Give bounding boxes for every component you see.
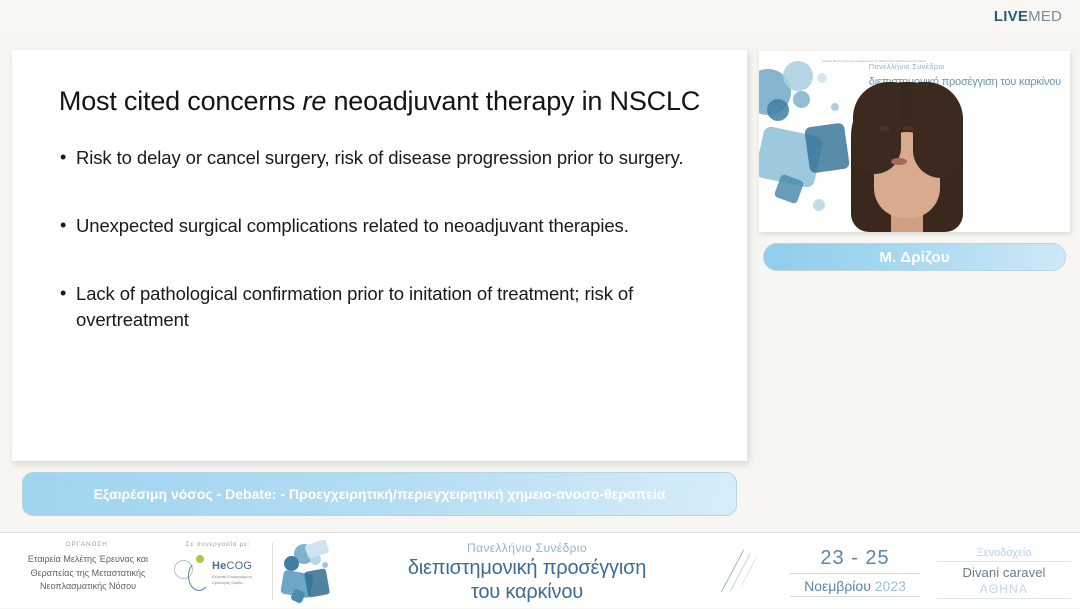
organizer-block: ΟΡΓΑΝΩΣΗ: Εταιρεία Μελέτης Έρευνας και Θ…	[8, 541, 168, 594]
backdrop-bubble-icon	[783, 61, 813, 91]
backdrop-bubble-icon	[793, 91, 810, 108]
hecog-text: HeCOG Ελληνική Συνεργαζόμενη Ογκολογική …	[212, 560, 268, 586]
eyebrow-icon	[877, 119, 892, 122]
conference-logo-art	[282, 542, 344, 602]
backdrop-brand-line1: Πανελλήνιο Συνέδριο	[869, 63, 1061, 72]
hecog-subtitle: Ελληνική Συνεργαζόμενη Ογκολογική Ομάδα	[212, 574, 268, 586]
dates-days: 23 - 25	[790, 547, 920, 574]
hecog-arc-icon	[188, 561, 210, 591]
venue-name: Divani caravel	[938, 565, 1070, 580]
conference-title-block: Πανελλήνιο Συνέδριο διεπιστημονική προσέ…	[352, 541, 702, 604]
venue-city: ΑΘΗΝΑ	[938, 582, 1070, 599]
bullet-marker-icon: •	[60, 281, 66, 307]
venue-label: Ξενοδοχείο	[938, 547, 1070, 562]
logo-bubble-icon	[284, 556, 299, 571]
organizer-label: ΟΡΓΑΝΩΣΗ:	[8, 541, 168, 548]
bullet-text: Lack of pathological confirmation prior …	[76, 283, 633, 330]
slide-title-italic: re	[303, 86, 327, 116]
backdrop-bubble-icon	[813, 199, 825, 211]
livemed-logo-live: LIVE	[994, 8, 1028, 25]
logo-shape-icon	[304, 539, 329, 559]
hecog-wordmark: HeCOG	[212, 560, 268, 572]
dates-year: 2023	[875, 578, 906, 594]
top-bar: LIVEMED	[0, 0, 1080, 38]
speaker-video-tile[interactable]: Εταιρεία Μελέτης Έρευνας και Θεραπείας τ…	[759, 51, 1070, 232]
organizer-name: Εταιρεία Μελέτης Έρευνας και Θεραπείας τ…	[8, 553, 168, 594]
conference-footer: ΟΡΓΑΝΩΣΗ: Εταιρεία Μελέτης Έρευνας και Θ…	[0, 532, 1080, 608]
cooperation-label: Σε συνεργασία με:	[168, 541, 268, 548]
mouth-icon	[891, 158, 907, 165]
dates-month: Νοεμβρίου	[804, 578, 875, 594]
hecog-mark-icon	[174, 554, 212, 594]
slide-bullet-list: • Risk to delay or cancel surgery, risk …	[60, 145, 705, 334]
session-title-bar: Εξαιρέσιμη νόσος - Debate: - Προεγχειρητ…	[22, 472, 737, 516]
speaker-name-badge: Μ. Δρίζου	[763, 243, 1066, 271]
presentation-slide[interactable]: Most cited concerns re neoadjuvant thera…	[12, 50, 747, 461]
bullet-text: Risk to delay or cancel surgery, risk of…	[76, 147, 683, 168]
cooperation-block: Σε συνεργασία με: HeCOG Ελληνική Συνεργα…	[168, 541, 268, 596]
slash-decoration-icon	[714, 547, 768, 597]
backdrop-bubble-icon	[767, 99, 789, 121]
conference-dates: 23 - 25 Νοεμβρίου 2023	[790, 547, 920, 597]
slash-stroke	[741, 558, 756, 585]
livemed-logo-med: MED	[1028, 8, 1062, 25]
eyebrow-icon	[901, 119, 916, 122]
session-title-label: Εξαιρέσιμη νόσος - Debate: - Προεγχειρητ…	[94, 484, 666, 504]
speaker-portrait	[843, 82, 971, 232]
bullet-marker-icon: •	[60, 213, 66, 239]
speaker-name-label: Μ. Δρίζου	[879, 249, 949, 266]
eye-icon	[903, 126, 914, 131]
conference-venue: Ξενοδοχείο Divani caravel ΑΘΗΝΑ	[938, 547, 1070, 599]
hecog-cog: COG	[226, 560, 252, 572]
list-item: • Lack of pathological confirmation prio…	[60, 281, 705, 334]
slide-title: Most cited concerns re neoadjuvant thera…	[44, 84, 715, 119]
hecog-he: He	[212, 560, 226, 572]
backdrop-bubble-icon	[817, 73, 827, 83]
list-item: • Unexpected surgical complications rela…	[60, 213, 705, 239]
eye-icon	[879, 126, 890, 131]
bullet-marker-icon: •	[60, 145, 66, 171]
conference-line3: του καρκίνου	[352, 581, 702, 605]
slide-title-part1: Most cited concerns	[59, 86, 303, 116]
backdrop-bubble-icon	[831, 103, 839, 111]
list-item: • Risk to delay or cancel surgery, risk …	[60, 145, 705, 171]
conference-line1: Πανελλήνιο Συνέδριο	[352, 541, 702, 555]
hecog-logo: HeCOG Ελληνική Συνεργαζόμενη Ογκολογική …	[168, 552, 268, 596]
conference-line2: διεπιστημονική προσέγγιση	[352, 557, 702, 581]
dates-month-year: Νοεμβρίου 2023	[790, 578, 920, 597]
bullet-text: Unexpected surgical complications relate…	[76, 215, 629, 236]
logo-bubble-icon	[322, 562, 328, 568]
footer-divider	[272, 542, 273, 600]
livemed-logo[interactable]: LIVEMED	[994, 8, 1062, 25]
logo-shape-icon	[304, 568, 330, 597]
hair-right-icon	[913, 82, 963, 178]
slide-title-part2: neoadjuvant therapy in NSCLC	[326, 86, 700, 116]
